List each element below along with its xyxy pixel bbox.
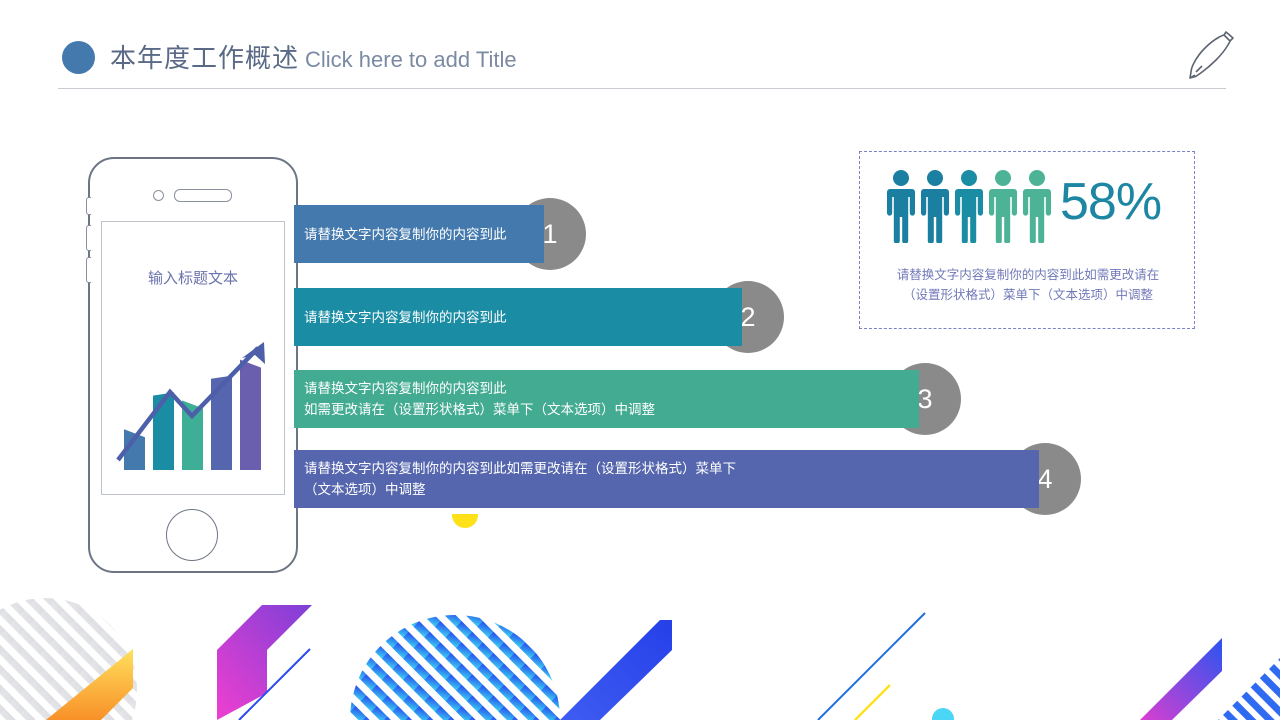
yellow-diagonal-line: [855, 685, 890, 720]
bar-row[interactable]: 2请替换文字内容复制你的内容到此: [294, 288, 817, 346]
person-icon: [989, 170, 1017, 243]
person-icon: [921, 170, 949, 243]
bar-label: 请替换文字内容复制你的内容到此如需更改请在（设置形状格式）菜单下 （文本选项）中…: [304, 458, 736, 500]
bar-row[interactable]: 3请替换文字内容复制你的内容到此 如需更改请在（设置形状格式）菜单下（文本选项）…: [294, 370, 994, 428]
decorative-footer: [0, 595, 1280, 720]
person-icon: [887, 170, 915, 243]
bar-row[interactable]: 1请替换文字内容复制你的内容到此: [294, 205, 619, 263]
bar-label: 请替换文字内容复制你的内容到此: [304, 307, 507, 328]
bar-row[interactable]: 4请替换文字内容复制你的内容到此如需更改请在（设置形状格式）菜单下 （文本选项）…: [294, 450, 1114, 508]
stat-panel: 58% 请替换文字内容复制你的内容到此如需更改请在 （设置形状格式）菜单下（文本…: [859, 151, 1195, 329]
stat-caption: 请替换文字内容复制你的内容到此如需更改请在 （设置形状格式）菜单下（文本选项）中…: [866, 265, 1190, 305]
blue-ribbon-center: [560, 620, 672, 720]
cyan-dot-decor: [932, 708, 954, 720]
bar-label: 请替换文字内容复制你的内容到此: [304, 224, 507, 245]
people-icon-group: [887, 169, 1057, 243]
blue-stripe-circle-decor: [348, 613, 563, 720]
bar-label: 请替换文字内容复制你的内容到此 如需更改请在（设置形状格式）菜单下（文本选项）中…: [304, 378, 655, 420]
person-icon: [955, 170, 983, 243]
stat-value: 58%: [1060, 172, 1161, 232]
right-ribbon-decor: [1140, 638, 1222, 720]
person-icon: [1023, 170, 1051, 243]
